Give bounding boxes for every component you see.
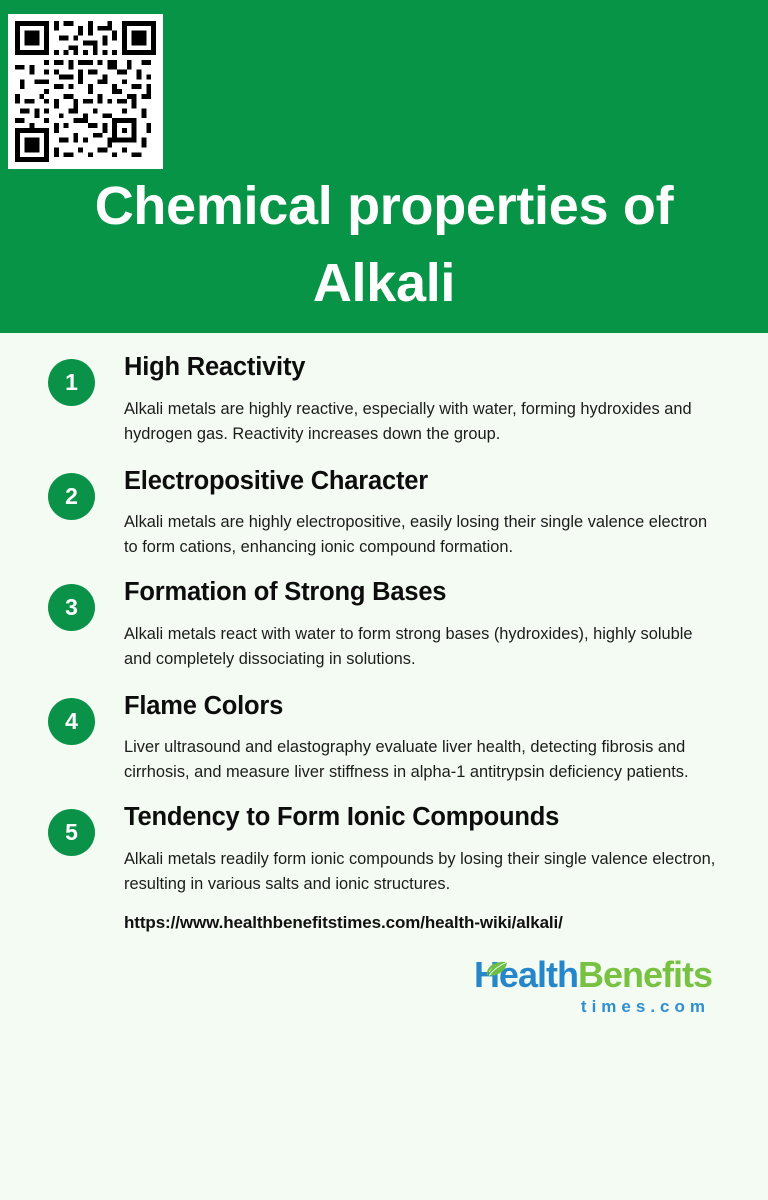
item-title: Tendency to Form Ionic Compounds xyxy=(124,801,738,835)
item-title: Formation of Strong Bases xyxy=(124,576,738,610)
item-description: Liver ultrasound and elastography evalua… xyxy=(124,735,724,785)
poster-header: Chemical properties of Alkali xyxy=(0,0,768,333)
item-description: Alkali metals are highly electropositive… xyxy=(124,510,724,560)
brand-logo-wordmark: HealthBenefits xyxy=(474,957,712,993)
brand-logo-benefits: Benefits xyxy=(578,954,712,995)
properties-list: 1 High Reactivity Alkali metals are high… xyxy=(0,333,768,1200)
infographic-poster: Chemical properties of Alkali 1 High Rea… xyxy=(0,0,768,1200)
item-description: Alkali metals react with water to form s… xyxy=(124,622,724,672)
page-title: Chemical properties of Alkali xyxy=(0,168,768,321)
list-item: 2 Electropositive Character Alkali metal… xyxy=(0,465,768,561)
list-item: 1 High Reactivity Alkali metals are high… xyxy=(0,351,768,447)
brand-logo[interactable]: HealthBenefits times.com xyxy=(474,957,712,1015)
brand-logo-subtitle: times.com xyxy=(474,998,712,1015)
item-title: High Reactivity xyxy=(124,351,738,385)
list-item: 3 Formation of Strong Bases Alkali metal… xyxy=(0,576,768,672)
item-number-badge: 2 xyxy=(48,473,95,520)
item-number-badge: 5 xyxy=(48,809,95,856)
item-number-badge: 4 xyxy=(48,698,95,745)
brand-logo-health: Health xyxy=(474,954,578,995)
item-description: Alkali metals are highly reactive, espec… xyxy=(124,397,724,447)
brand-logo-row: HealthBenefits times.com xyxy=(0,957,768,1015)
item-number-badge: 3 xyxy=(48,584,95,631)
list-item: 4 Flame Colors Liver ultrasound and elas… xyxy=(0,690,768,786)
source-url[interactable]: https://www.healthbenefitstimes.com/heal… xyxy=(0,913,768,933)
item-title: Electropositive Character xyxy=(124,465,738,499)
item-title: Flame Colors xyxy=(124,690,738,724)
item-number-badge: 1 xyxy=(48,359,95,406)
qr-code-icon[interactable] xyxy=(8,14,163,169)
item-description: Alkali metals readily form ionic compoun… xyxy=(124,847,724,897)
list-item: 5 Tendency to Form Ionic Compounds Alkal… xyxy=(0,801,768,897)
